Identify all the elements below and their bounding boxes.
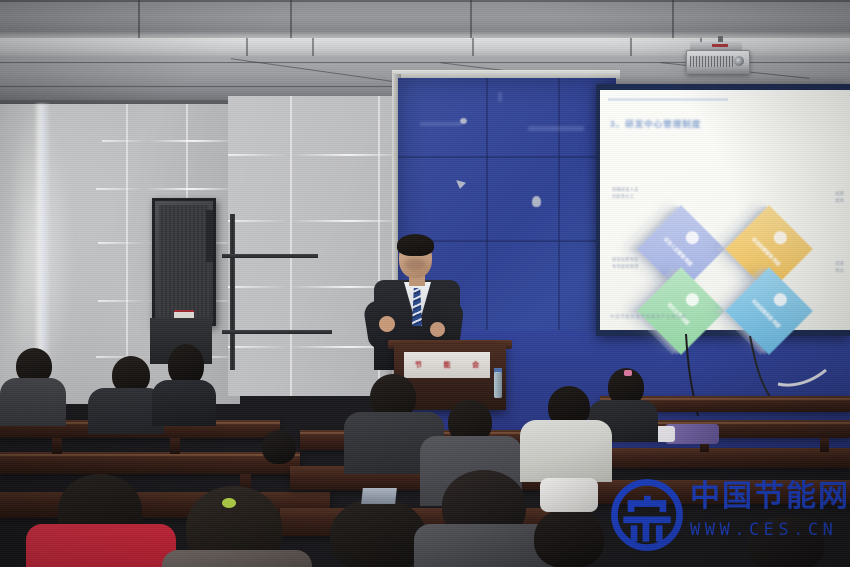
presenter-right-hand (430, 322, 445, 337)
podium-char-3: 会 (472, 360, 479, 370)
slide-note-left-top: 明确研发人员 的职责分工 (612, 186, 638, 201)
quadrant-a-badge (683, 228, 701, 246)
slide-diagram: 研发人员管理 制度 研发经费管理 制度 项目立项 制度 科研成果奖励 制度 (640, 218, 810, 348)
audience-torso-7 (520, 420, 612, 482)
quadrant-b-badge (771, 228, 789, 246)
bench-row-far-right-3 (590, 448, 850, 468)
water-bottle (494, 372, 502, 398)
speaker-mount-arm (206, 210, 213, 262)
slide-header-rule (608, 98, 728, 101)
watermark: 中国节能网 WWW.CES.CN (610, 476, 850, 562)
audience-torso-1 (0, 378, 66, 426)
audience-hairclip (624, 370, 632, 376)
wall-rail-horizontal-lower (222, 330, 332, 334)
watermark-site-name: 中国节能网 (690, 482, 850, 512)
projector-indicator (712, 44, 728, 47)
slide-note-right-bottom: 成果 转化 (835, 260, 844, 275)
audience-head-14 (262, 430, 296, 464)
white-bag (540, 478, 598, 512)
projector-lens (734, 56, 744, 66)
audience-hairtie-green (222, 498, 236, 508)
white-item-on-bench (655, 426, 675, 442)
slide-footer: 中国节能协会节能服务产业委员会 (610, 314, 687, 320)
presenter-face-shadow (404, 258, 426, 270)
audience-torso-9 (162, 550, 312, 567)
lecture-hall-photo: 3、研发中心管理制度 明确研发人员 的职责分工 研发经费专款 专项使用管理 经费… (0, 0, 850, 567)
slide-note-right-top: 经费 使用 (835, 190, 844, 205)
watermark-url: WWW.CES.CN (690, 520, 837, 540)
projection-screen: 3、研发中心管理制度 明确研发人员 的职责分工 研发经费专款 专项使用管理 经费… (600, 90, 850, 330)
ces-logo-icon (610, 478, 684, 552)
wall-rail-vertical (230, 214, 235, 370)
wall-rail-horizontal (222, 254, 318, 258)
podium-char-1: 节 (415, 360, 422, 370)
podium-front-panel: 节 能 会 (404, 352, 490, 378)
quadrant-d-badge (771, 290, 789, 308)
projector-vent (690, 56, 734, 67)
laptop-screen (361, 488, 397, 504)
slide-title: 3、研发中心管理制度 (610, 118, 701, 130)
audience-head-12 (534, 508, 604, 567)
ceiling-projector (686, 50, 750, 74)
audience-torso-3 (152, 380, 216, 426)
slide-note-left-bottom: 研发经费专款 专项使用管理 (612, 256, 638, 271)
audience-torso-8-red-jacket (26, 524, 176, 567)
quadrant-c-badge (683, 290, 701, 308)
presenter-hair (397, 234, 434, 256)
podium-char-2: 能 (443, 360, 450, 370)
audience-head-10 (330, 498, 426, 567)
presenter-left-hand (379, 316, 395, 332)
audience-torso-11 (414, 524, 554, 567)
